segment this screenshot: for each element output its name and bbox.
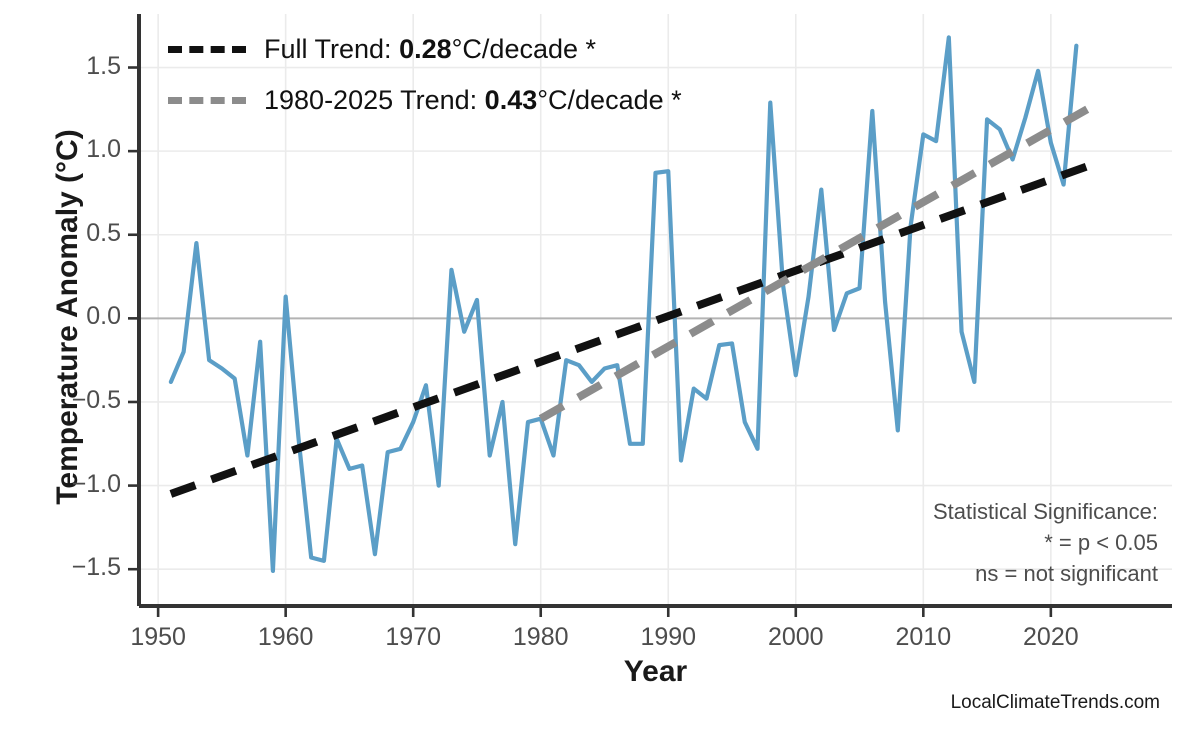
legend-label-recent-trend: 1980-2025 Trend: 0.43°C/decade *	[264, 85, 682, 116]
legend-item-full-trend: Full Trend: 0.28°C/decade *	[168, 34, 596, 65]
x-axis-label: Year	[139, 655, 1172, 689]
y-tick-label: −0.5	[15, 386, 121, 415]
x-tick-label: 1960	[250, 623, 322, 652]
x-tick-label: 2020	[1015, 623, 1087, 652]
y-tick-label: 0.0	[15, 302, 121, 331]
x-tick-label: 1990	[632, 623, 704, 652]
significance-annotation: Statistical Significance: * = p < 0.05 n…	[933, 496, 1158, 589]
y-tick-label: −1.5	[15, 553, 121, 582]
y-tick-label: 1.0	[15, 135, 121, 164]
x-tick-label: 1950	[122, 623, 194, 652]
climate-anomaly-chart: Temperature Anomaly (°C) Year 1950196019…	[0, 0, 1186, 737]
significance-heading: Statistical Significance:	[933, 496, 1158, 527]
x-tick-label: 2000	[760, 623, 832, 652]
significance-ns-note: ns = not significant	[933, 558, 1158, 589]
x-tick-label: 2010	[887, 623, 959, 652]
x-tick-label: 1980	[505, 623, 577, 652]
legend-label-full-trend: Full Trend: 0.28°C/decade *	[264, 34, 596, 65]
legend-swatch-gray-dashed	[168, 97, 246, 104]
legend-item-recent-trend: 1980-2025 Trend: 0.43°C/decade *	[168, 85, 682, 116]
temperature-anomaly-line	[171, 37, 1076, 570]
y-tick-label: 0.5	[15, 219, 121, 248]
x-tick-label: 1970	[377, 623, 449, 652]
y-tick-label: 1.5	[15, 52, 121, 81]
site-credit: LocalClimateTrends.com	[951, 692, 1160, 714]
legend-swatch-black-dashed	[168, 46, 246, 53]
y-tick-label: −1.0	[15, 470, 121, 499]
significance-star-note: * = p < 0.05	[933, 527, 1158, 558]
